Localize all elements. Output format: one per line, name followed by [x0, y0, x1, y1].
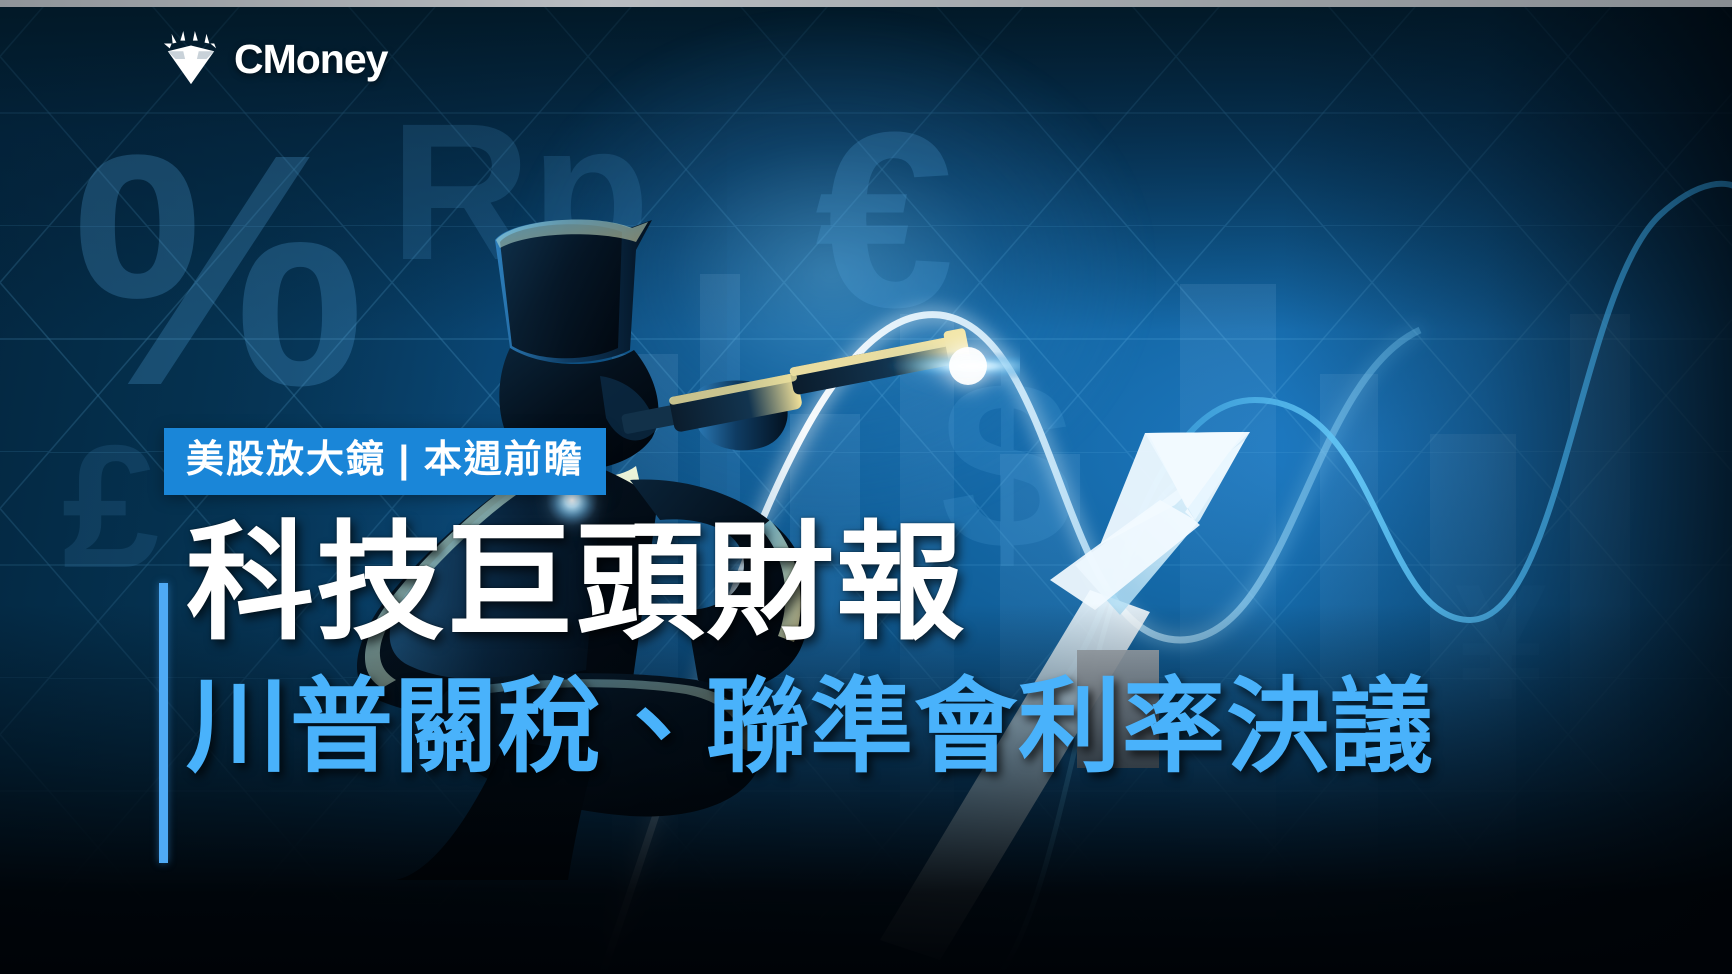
- accent-bar: [159, 583, 168, 863]
- headline-group: 美股放大鏡 | 本週前瞻 科技巨頭財報 川普關稅、聯準會利率決議: [0, 0, 1732, 974]
- series-badge-label: 美股放大鏡 | 本週前瞻: [186, 441, 584, 479]
- banner-canvas: % Rp € $ £ ¥: [0, 0, 1732, 974]
- page-title: 科技巨頭財報: [186, 516, 966, 652]
- page-subtitle: 川普關稅、聯準會利率決議: [186, 672, 1434, 781]
- top-strip: [0, 0, 1732, 7]
- series-badge: 美股放大鏡 | 本週前瞻: [164, 428, 606, 495]
